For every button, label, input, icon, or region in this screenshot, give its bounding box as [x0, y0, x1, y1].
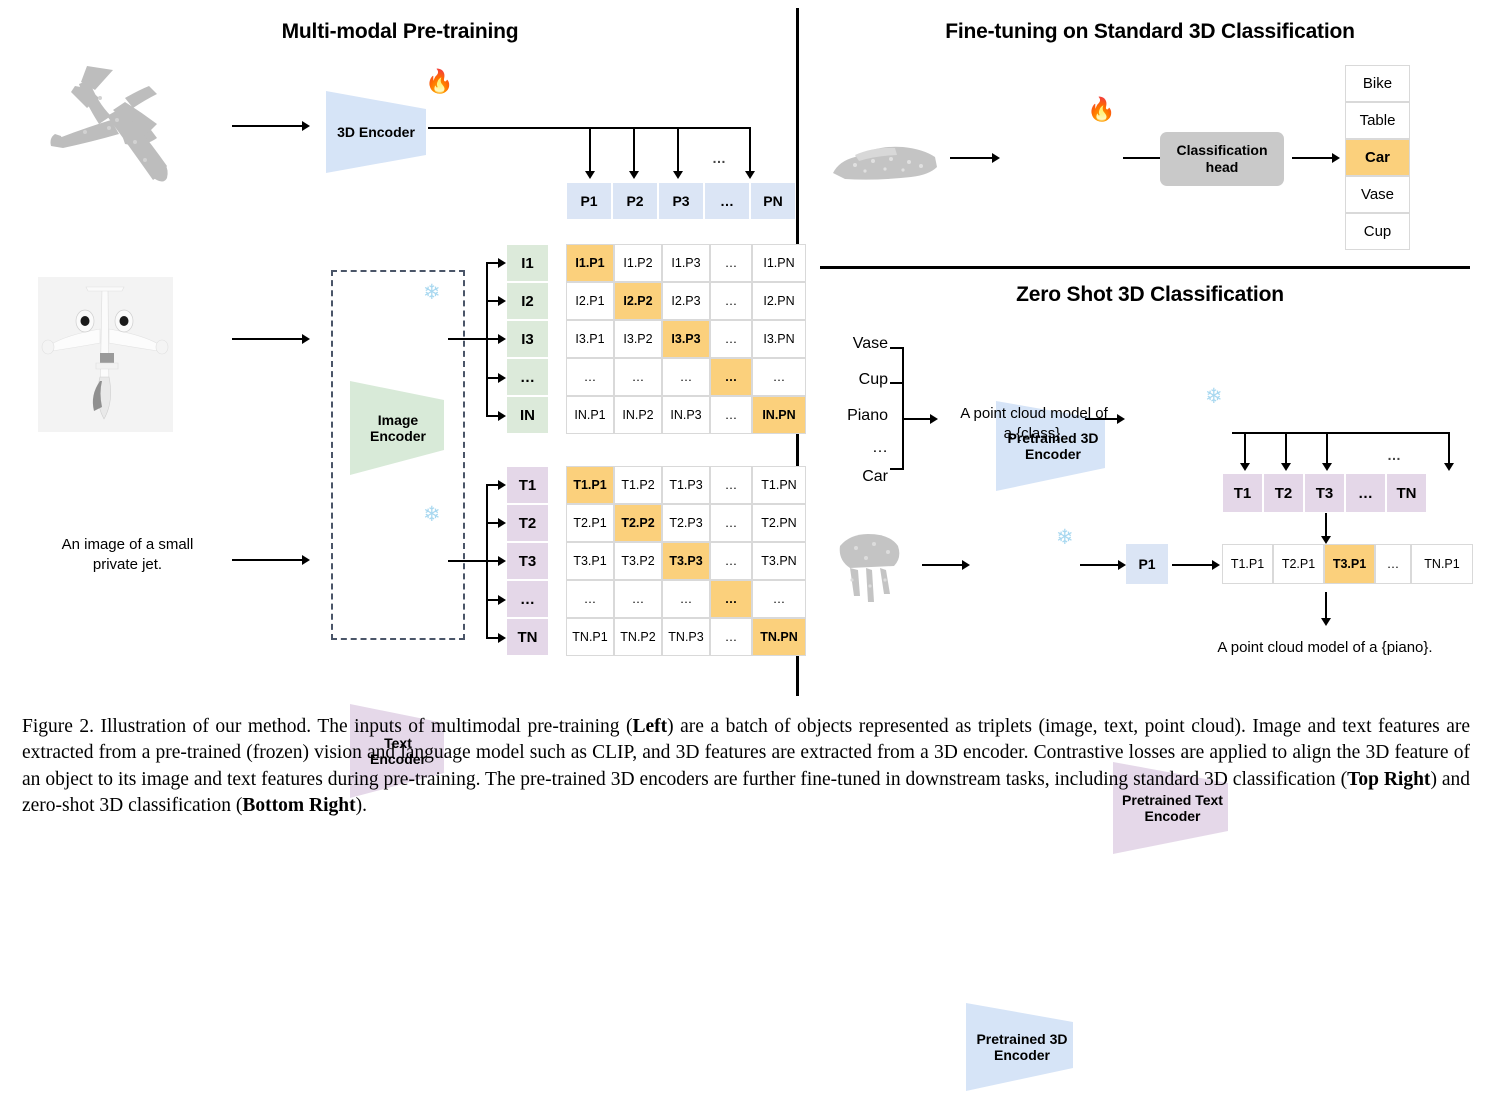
text-matrix-cell-1-4[interactable]: T2.PN — [752, 504, 806, 542]
zs-arrowhead-t2 — [1281, 463, 1291, 471]
text-encoder-label-2: Encoder — [370, 751, 426, 767]
zs-similarity-row: T1.P1T2.P1T3.P1…TN.P1 — [1222, 544, 1473, 584]
image-similarity-matrix: I1.P1I1.P2I1.P3…I1.PNI2.P1I2.P2I2.P3…I2.… — [566, 244, 806, 434]
image-feature-1[interactable]: I2 — [506, 282, 549, 320]
image-matrix-row: I1.P1I1.P2I1.P3…I1.PN — [566, 244, 806, 282]
arrowhead-i4 — [498, 373, 506, 383]
arrowhead-in — [498, 411, 506, 421]
zs-text-encoder-label-2: Encoder — [1144, 808, 1200, 824]
text-input-caption: An image of a small private jet. — [30, 535, 225, 574]
ft-encoder-label-2: Encoder — [1025, 446, 1081, 462]
image-matrix-cell-3-2[interactable]: … — [662, 358, 710, 396]
text-matrix-cell-0-2[interactable]: T1.P3 — [662, 466, 710, 504]
p-feature-4[interactable]: PN — [750, 182, 796, 220]
text-matrix-row: TN.P1TN.P2TN.P3…TN.PN — [566, 618, 806, 656]
text-matrix-cell-4-1[interactable]: TN.P2 — [614, 618, 662, 656]
arrowhead-encoder-to-p1 — [1118, 560, 1126, 570]
arrowhead-pointcloud-to-encoder — [302, 121, 310, 131]
class-list: BikeTableCarVaseCup — [1345, 65, 1410, 250]
bottom-right-panel-title: Zero Shot 3D Classification — [880, 283, 1420, 307]
class-option-car[interactable]: Car — [1345, 139, 1410, 176]
branch-p3 — [677, 127, 679, 173]
image-feature-2[interactable]: I3 — [506, 320, 549, 358]
image-matrix-cell-4-3[interactable]: … — [710, 396, 752, 434]
arrowhead-t2 — [498, 518, 506, 528]
zs-class-option-4[interactable]: Car — [828, 468, 888, 486]
point-cloud-piano — [828, 520, 918, 610]
arrow-car-to-encoder — [950, 157, 994, 159]
arrowhead-image-to-encoder — [302, 334, 310, 344]
image-encoder-label-1: Image — [378, 412, 418, 428]
image-matrix-cell-3-0[interactable]: … — [566, 358, 614, 396]
image-matrix-cell-1-1[interactable]: I2.P2 — [614, 282, 662, 320]
image-matrix-cell-2-3[interactable]: … — [710, 320, 752, 358]
text-matrix-row: T3.P1T3.P2T3.P3…T3.PN — [566, 542, 806, 580]
zs-text-feature-row: T1T2T3…TN — [1222, 473, 1427, 513]
image-matrix-cell-1-2[interactable]: I2.P3 — [662, 282, 710, 320]
bus-zs-text-encoder — [1232, 432, 1450, 434]
classification-head-label-1: Classification — [1176, 142, 1267, 158]
image-matrix-cell-4-4[interactable]: IN.PN — [752, 396, 806, 434]
arrowhead-t4 — [498, 595, 506, 605]
text-matrix-cell-4-0[interactable]: TN.P1 — [566, 618, 614, 656]
text-matrix-cell-4-2[interactable]: TN.P3 — [662, 618, 710, 656]
text-matrix-cell-3-0[interactable]: … — [566, 580, 614, 618]
arrow-classes-to-prompt — [902, 418, 932, 420]
bus-image-encoder — [448, 338, 488, 340]
text-matrix-cell-3-1[interactable]: … — [614, 580, 662, 618]
text-feature-0[interactable]: T1 — [506, 466, 549, 504]
arrow-encoder-to-p1 — [1080, 564, 1122, 566]
text-matrix-cell-0-3[interactable]: … — [710, 466, 752, 504]
p-feature-2[interactable]: P3 — [658, 182, 704, 220]
caption-bold: Left — [632, 716, 667, 737]
zs-text-feature-0[interactable]: T1 — [1222, 473, 1263, 513]
image-matrix-cell-2-0[interactable]: I3.P1 — [566, 320, 614, 358]
text-feature-column: T1 T2 T3 … TN — [506, 466, 549, 656]
caption-bold: Top Right — [1347, 769, 1430, 790]
caption-bold: Bottom Right — [242, 795, 355, 816]
zs-class-option-3[interactable]: … — [828, 439, 888, 457]
text-encoder-block[interactable]: Text Encoder — [346, 701, 450, 801]
text-similarity-matrix: T1.P1T1.P2T1.P3…T1.PNT2.P1T2.P2T2.P3…T2.… — [566, 466, 806, 656]
bus-text-encoder — [448, 560, 488, 562]
image-matrix-cell-1-3[interactable]: … — [710, 282, 752, 320]
snowflake-icon-3d-encoder-zs: ❄ — [1056, 527, 1074, 548]
image-matrix-row: IN.P1IN.P2IN.P3…IN.PN — [566, 396, 806, 434]
image-matrix-cell-0-0[interactable]: I1.P1 — [566, 244, 614, 282]
zs-arrowhead-tn — [1444, 463, 1454, 471]
class-option-vase[interactable]: Vase — [1345, 176, 1410, 213]
image-matrix-cell-1-0[interactable]: I2.P1 — [566, 282, 614, 320]
arrowhead-head-to-classes — [1332, 153, 1340, 163]
zs-text-feature-1[interactable]: T2 — [1263, 473, 1304, 513]
class-option-cup[interactable]: Cup — [1345, 213, 1410, 250]
text-matrix-cell-2-1[interactable]: T3.P2 — [614, 542, 662, 580]
text-matrix-cell-2-3[interactable]: … — [710, 542, 752, 580]
image-matrix-row: I2.P1I2.P2I2.P3…I2.PN — [566, 282, 806, 320]
arrowhead-tfeatures-to-similarity — [1321, 536, 1331, 544]
arrowhead-i2 — [498, 296, 506, 306]
zs-similarity-cell-1[interactable]: T2.P1 — [1273, 544, 1324, 584]
arrowhead-pn — [745, 171, 755, 179]
image-matrix-cell-3-3[interactable]: … — [710, 358, 752, 396]
text-matrix-cell-0-4[interactable]: T1.PN — [752, 466, 806, 504]
classification-head-block[interactable]: Classification head — [1160, 132, 1284, 186]
image-feature-column: I1 I2 I3 … IN — [506, 244, 549, 434]
zs-3d-encoder-label-1: Pretrained 3D — [976, 1031, 1067, 1047]
text-matrix-cell-4-4[interactable]: TN.PN — [752, 618, 806, 656]
image-matrix-cell-4-2[interactable]: IN.P3 — [662, 396, 710, 434]
p-feature-0[interactable]: P1 — [566, 182, 612, 220]
panel-horizontal-divider — [820, 266, 1470, 269]
image-matrix-cell-2-1[interactable]: I3.P2 — [614, 320, 662, 358]
zs-arrowhead-t1 — [1240, 463, 1250, 471]
branch-ellipsis: … — [712, 150, 727, 166]
arrow-image-to-encoder — [232, 338, 304, 340]
arrowhead-p1 — [585, 171, 595, 179]
text-matrix-cell-1-3[interactable]: … — [710, 504, 752, 542]
arrowhead-piano-to-encoder — [962, 560, 970, 570]
zs-class-option-0[interactable]: Vase — [828, 335, 888, 353]
image-feature-0[interactable]: I1 — [506, 244, 549, 282]
snowflake-icon-text-encoder-zs: ❄ — [1205, 386, 1223, 407]
p-feature-3[interactable]: … — [704, 182, 750, 220]
image-matrix-row: …………… — [566, 358, 806, 396]
zs-text-feature-2[interactable]: T3 — [1304, 473, 1345, 513]
image-matrix-cell-3-4[interactable]: … — [752, 358, 806, 396]
arrowhead-tn — [498, 633, 506, 643]
image-matrix-cell-0-2[interactable]: I1.P3 — [662, 244, 710, 282]
left-panel-title: Multi-modal Pre-training — [220, 20, 580, 44]
class-bracket-top — [890, 347, 904, 349]
arrowhead-text-to-encoder — [302, 555, 310, 565]
text-matrix-row: …………… — [566, 580, 806, 618]
arrowhead-p1-to-similarity — [1212, 560, 1220, 570]
image-matrix-cell-2-4[interactable]: I3.PN — [752, 320, 806, 358]
arrowhead-t1 — [498, 480, 506, 490]
image-matrix-cell-4-1[interactable]: IN.P2 — [614, 396, 662, 434]
image-matrix-cell-0-4[interactable]: I1.PN — [752, 244, 806, 282]
image-feature-3[interactable]: … — [506, 358, 549, 396]
class-bracket-cup — [890, 382, 904, 384]
arrowhead-car-to-encoder — [992, 153, 1000, 163]
text-input-line1: An image of a small — [62, 536, 194, 553]
text-feature-3[interactable]: … — [506, 580, 549, 618]
text-matrix-cell-3-3[interactable]: … — [710, 580, 752, 618]
zs-similarity-cell-3[interactable]: … — [1375, 544, 1411, 584]
encoder-3d-block[interactable]: 3D Encoder — [322, 88, 430, 176]
arrowhead-t3 — [498, 556, 506, 566]
image-matrix-cell-3-1[interactable]: … — [614, 358, 662, 396]
class-option-bike[interactable]: Bike — [1345, 65, 1410, 102]
pretrained-3d-encoder-zs-block[interactable]: Pretrained 3D Encoder — [963, 1000, 1081, 1094]
arrow-similarity-to-result — [1325, 592, 1327, 620]
text-matrix-cell-1-0[interactable]: T2.P1 — [566, 504, 614, 542]
pretrained-3d-encoder-finetune-block[interactable]: Pretrained 3D Encoder — [993, 398, 1113, 494]
arrowhead-similarity-to-result — [1321, 618, 1331, 626]
text-matrix-cell-3-2[interactable]: … — [662, 580, 710, 618]
zs-text-feature-4[interactable]: TN — [1386, 473, 1427, 513]
image-matrix-cell-2-2[interactable]: I3.P3 — [662, 320, 710, 358]
text-matrix-cell-3-4[interactable]: … — [752, 580, 806, 618]
text-input-line2: private jet. — [93, 556, 162, 573]
arrow-pointcloud-to-encoder — [232, 125, 304, 127]
branch-pn — [749, 127, 751, 173]
arrow-head-to-classes — [1292, 157, 1334, 159]
zs-similarity-cell-2[interactable]: T3.P1 — [1324, 544, 1375, 584]
classification-head-label-2: head — [1206, 159, 1239, 175]
zs-text-feature-3[interactable]: … — [1345, 473, 1386, 513]
ft-encoder-label-1: Pretrained 3D — [1007, 430, 1098, 446]
arrowhead-p3 — [673, 171, 683, 179]
caption-text: Figure 2. Illustration of our method. Th… — [22, 716, 632, 737]
image-matrix-cell-4-0[interactable]: IN.P1 — [566, 396, 614, 434]
text-matrix-cell-1-2[interactable]: T2.P3 — [662, 504, 710, 542]
p-feature-row: P1 P2 P3 … PN — [566, 182, 796, 220]
point-cloud-car — [825, 135, 945, 195]
class-option-table[interactable]: Table — [1345, 102, 1410, 139]
zs-similarity-cell-4[interactable]: TN.P1 — [1411, 544, 1473, 584]
image-matrix-row: I3.P1I3.P2I3.P3…I3.PN — [566, 320, 806, 358]
top-right-panel-title: Fine-tuning on Standard 3D Classificatio… — [880, 20, 1420, 44]
image-matrix-cell-0-3[interactable]: … — [710, 244, 752, 282]
p-feature-1[interactable]: P2 — [612, 182, 658, 220]
zs-class-option-2[interactable]: Piano — [828, 407, 888, 425]
text-feature-1[interactable]: T2 — [506, 504, 549, 542]
class-bracket-bottom — [890, 468, 904, 470]
text-matrix-cell-2-4[interactable]: T3.PN — [752, 542, 806, 580]
rendered-image-airplane — [38, 277, 173, 432]
text-matrix-cell-0-0[interactable]: T1.P1 — [566, 466, 614, 504]
image-encoder-label-2: Encoder — [370, 428, 426, 444]
text-matrix-cell-1-1[interactable]: T2.P2 — [614, 504, 662, 542]
text-matrix-cell-0-1[interactable]: T1.P2 — [614, 466, 662, 504]
arrow-piano-to-encoder — [922, 564, 964, 566]
text-matrix-cell-4-3[interactable]: … — [710, 618, 752, 656]
class-bracket-vertical — [902, 347, 904, 470]
zs-similarity-cell-0[interactable]: T1.P1 — [1222, 544, 1273, 584]
image-feature-4[interactable]: IN — [506, 396, 549, 434]
arrowhead-i3 — [498, 334, 506, 344]
image-encoder-block[interactable]: Image Encoder — [346, 378, 450, 478]
arrow-tfeatures-to-similarity — [1325, 513, 1327, 538]
encoder-3d-label: 3D Encoder — [337, 124, 415, 140]
text-matrix-row: T1.P1T1.P2T1.P3…T1.PN — [566, 466, 806, 504]
zs-branch-tn — [1448, 432, 1450, 465]
arrow-text-to-encoder — [232, 559, 304, 561]
branch-p2 — [633, 127, 635, 173]
text-matrix-cell-2-0[interactable]: T3.P1 — [566, 542, 614, 580]
branch-p1 — [589, 127, 591, 173]
arrow-p1-to-similarity — [1172, 564, 1214, 566]
zs-point-feature-p1[interactable]: P1 — [1126, 544, 1168, 584]
text-matrix-row: T2.P1T2.P2T2.P3…T2.PN — [566, 504, 806, 542]
arrowhead-p2 — [629, 171, 639, 179]
zs-branch-t1 — [1244, 432, 1246, 465]
snowflake-icon-text-encoder: ❄ — [423, 504, 441, 525]
text-encoder-label-1: Text — [384, 735, 412, 751]
text-matrix-cell-2-2[interactable]: T3.P3 — [662, 542, 710, 580]
text-feature-2[interactable]: T3 — [506, 542, 549, 580]
zs-branch-ellipsis: … — [1387, 447, 1402, 463]
zs-branch-t2 — [1285, 432, 1287, 465]
pretrained-text-encoder-block[interactable]: Pretrained Text Encoder — [1110, 759, 1235, 857]
zs-3d-encoder-label-2: Encoder — [994, 1047, 1050, 1063]
image-matrix-cell-1-4[interactable]: I2.PN — [752, 282, 806, 320]
image-matrix-cell-0-1[interactable]: I1.P2 — [614, 244, 662, 282]
zs-branch-t3 — [1326, 432, 1328, 465]
arrow-encoder-to-head — [1123, 157, 1163, 159]
arrowhead-classes-to-prompt — [930, 414, 938, 424]
arrowhead-i1 — [498, 258, 506, 268]
fire-icon-finetune-encoder: 🔥 — [1087, 98, 1116, 121]
point-cloud-airplane — [25, 50, 225, 220]
zs-text-encoder-label-1: Pretrained Text — [1122, 792, 1223, 808]
snowflake-icon-image-encoder: ❄ — [423, 282, 441, 303]
text-feature-4[interactable]: TN — [506, 618, 549, 656]
zs-arrowhead-t3 — [1322, 463, 1332, 471]
zs-class-option-1[interactable]: Cup — [828, 371, 888, 389]
figure-caption: Figure 2. Illustration of our method. Th… — [22, 714, 1470, 820]
zero-shot-result: A point cloud model of a {piano}. — [1180, 638, 1470, 658]
figure-canvas: Multi-modal Pre-training — [0, 0, 1490, 700]
